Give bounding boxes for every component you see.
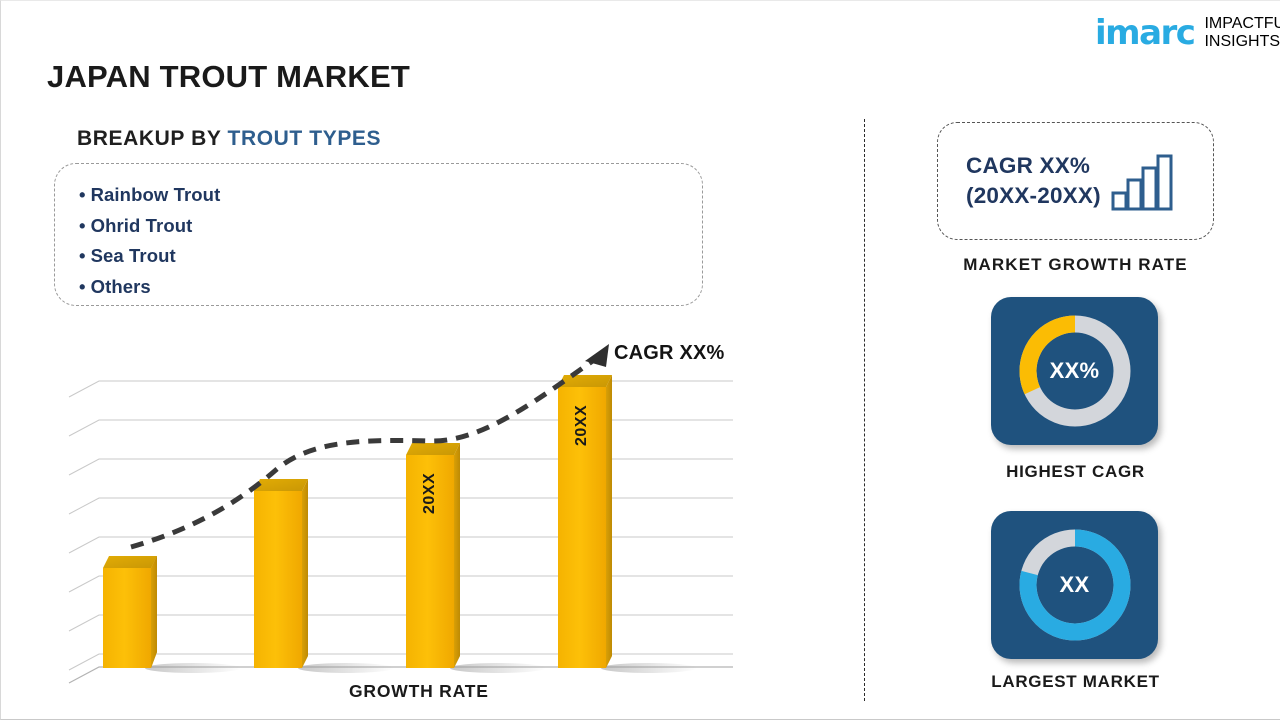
logo-wordmark: imarc [1095, 16, 1194, 50]
trout-types-list: •Rainbow Trout •Ohrid Trout •Sea Trout •… [79, 180, 702, 302]
list-item-label: Sea Trout [91, 245, 176, 266]
bullet-icon: • [79, 276, 86, 297]
chart-cagr-annotation: CAGR XX% [614, 342, 725, 365]
logo-tagline-line1: IMPACTFUL [1204, 15, 1280, 33]
bullet-icon: • [79, 184, 86, 205]
trout-types-box: •Rainbow Trout •Ohrid Trout •Sea Trout •… [54, 163, 703, 306]
chart-svg [61, 331, 751, 701]
cagr-line-1: CAGR XX% [966, 151, 1101, 181]
largest-market-caption: LARGEST MARKET [937, 672, 1214, 692]
trendline [131, 344, 609, 547]
breakup-heading: BREAKUP BY TROUT TYPES [77, 127, 381, 151]
bullet-icon: • [79, 245, 86, 266]
list-item-label: Others [91, 276, 151, 297]
list-item: •Rainbow Trout [79, 180, 702, 211]
bullet-icon: • [79, 215, 86, 236]
highest-cagr-value: XX% [1013, 309, 1137, 433]
growth-rate-bar-chart: 20XX 20XX [61, 331, 751, 701]
bar-1 [103, 556, 157, 668]
bar-chart-icon [1111, 153, 1173, 216]
section-divider [864, 119, 865, 701]
list-item-label: Rainbow Trout [91, 184, 221, 205]
breakup-heading-plain: BREAKUP BY [77, 127, 228, 150]
cagr-line-2: (20XX-20XX) [966, 181, 1101, 211]
imarc-logo: imarc IMPACTFUL INSIGHTS [1095, 15, 1267, 51]
list-item: •Ohrid Trout [79, 211, 702, 242]
trendline-arrow-icon [585, 344, 609, 367]
list-item: •Sea Trout [79, 241, 702, 272]
logo-tagline: IMPACTFUL INSIGHTS [1204, 15, 1280, 51]
bar-4-year-label: 20XX [573, 398, 591, 446]
largest-market-tile: XX [991, 511, 1158, 659]
largest-market-value: XX [1013, 523, 1137, 647]
chart-gridlines [69, 381, 733, 670]
infographic-page: imarc IMPACTFUL INSIGHTS JAPAN TROUT MAR… [0, 0, 1280, 720]
largest-market-donut: XX [1013, 523, 1137, 647]
market-growth-rate-box: CAGR XX% (20XX-20XX) [937, 122, 1214, 240]
bar-3-year-label: 20XX [421, 466, 439, 514]
list-item-label: Ohrid Trout [91, 215, 193, 236]
logo-tagline-line2: INSIGHTS [1204, 33, 1280, 51]
highest-cagr-tile: XX% [991, 297, 1158, 445]
chart-x-axis-label: GROWTH RATE [349, 681, 489, 702]
list-item: •Others [79, 272, 702, 303]
bar-2 [254, 479, 308, 668]
page-title: JAPAN TROUT MARKET [47, 59, 410, 95]
market-growth-rate-value: CAGR XX% (20XX-20XX) [966, 151, 1101, 211]
breakup-heading-accent: TROUT TYPES [228, 127, 382, 150]
market-growth-rate-caption: MARKET GROWTH RATE [937, 255, 1214, 275]
highest-cagr-caption: HIGHEST CAGR [937, 462, 1214, 482]
highest-cagr-donut: XX% [1013, 309, 1137, 433]
